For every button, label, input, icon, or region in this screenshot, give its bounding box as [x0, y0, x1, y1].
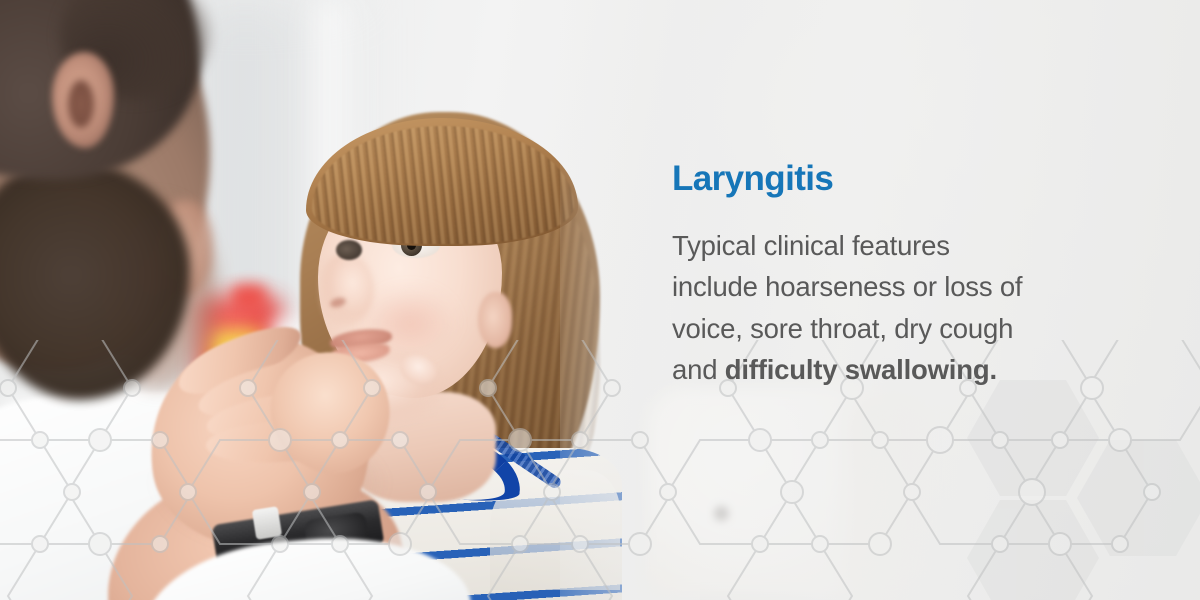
body-line-2: include hoarseness or loss of [672, 266, 1092, 308]
blurred-red-cap [232, 284, 266, 310]
body-copy: Typical clinical features include hoarse… [672, 225, 1092, 391]
body-line-3: voice, sore throat, dry cough [672, 308, 1092, 350]
child-nose [320, 254, 374, 326]
body-emphasis: difficulty swallowing. [725, 354, 997, 385]
laryngitis-banner: Laryngitis Typical clinical features inc… [0, 0, 1200, 600]
text-panel: Laryngitis Typical clinical features inc… [672, 160, 1092, 391]
doctor-ear-inner [68, 80, 94, 128]
body-line-4-prefix: and [672, 354, 725, 385]
page-title: Laryngitis [672, 160, 1092, 199]
child-far-eye [336, 240, 362, 260]
wrist-watch-buckle [252, 506, 282, 540]
body-line-4: and difficulty swallowing. [672, 349, 1092, 391]
body-line-1: Typical clinical features [672, 225, 1092, 267]
child-ear [478, 292, 512, 348]
